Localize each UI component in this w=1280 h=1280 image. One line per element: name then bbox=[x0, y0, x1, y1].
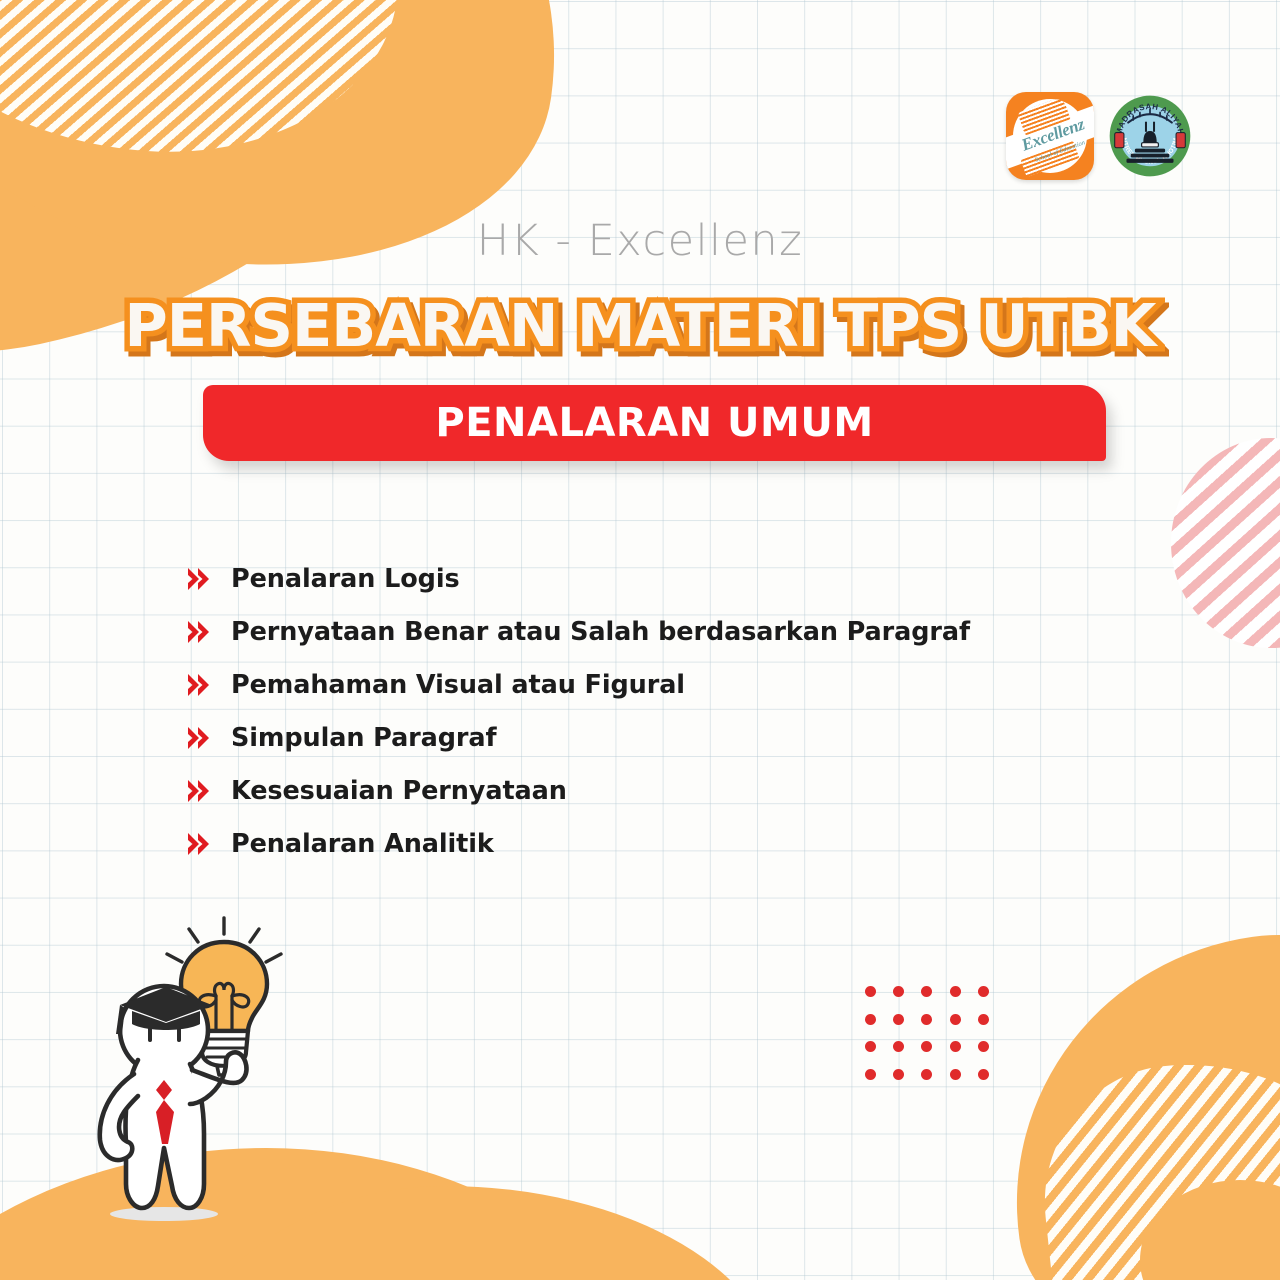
brand-handwritten-line: HK - Excellenz bbox=[0, 216, 1280, 266]
red-dot bbox=[893, 1014, 904, 1025]
double-chevron-icon bbox=[186, 672, 214, 698]
excellenz-logo-icon: Excellenz School of Education bbox=[1006, 92, 1094, 180]
red-dot-grid-decoration bbox=[856, 978, 998, 1088]
page-title: PERSEBARAN MATERI TPS UTBK bbox=[0, 291, 1280, 360]
double-chevron-icon bbox=[186, 566, 214, 592]
red-dot bbox=[950, 1014, 961, 1025]
red-dot bbox=[865, 1069, 876, 1080]
list-item-label: Pemahaman Visual atau Figural bbox=[231, 670, 685, 700]
double-chevron-icon bbox=[186, 725, 214, 751]
red-dot bbox=[865, 986, 876, 997]
red-dot bbox=[921, 1041, 932, 1052]
red-dot bbox=[978, 1069, 989, 1080]
red-dot bbox=[893, 1069, 904, 1080]
red-dot bbox=[865, 1014, 876, 1025]
poster-canvas: Excellenz School of Education MADRASAH A… bbox=[0, 0, 1280, 1280]
madrasah-seal-icon: MADRASAH ALIYAH PONTREN HUSNUL KHOTIMAH bbox=[1108, 94, 1192, 178]
list-item[interactable]: Pemahaman Visual atau Figural bbox=[186, 658, 1086, 711]
red-dot bbox=[950, 986, 961, 997]
list-item-label: Pernyataan Benar atau Salah berdasarkan … bbox=[231, 617, 970, 647]
double-chevron-icon bbox=[186, 831, 214, 857]
list-item[interactable]: Simpulan Paragraf bbox=[186, 711, 1086, 764]
red-dot bbox=[893, 1041, 904, 1052]
double-chevron-icon bbox=[186, 619, 214, 645]
list-item-label: Simpulan Paragraf bbox=[231, 723, 497, 753]
red-dot bbox=[950, 1069, 961, 1080]
subtitle-banner-label: PENALARAN UMUM bbox=[435, 400, 873, 446]
list-item-label: Kesesuaian Pernyataan bbox=[231, 776, 567, 806]
red-dot bbox=[978, 1014, 989, 1025]
red-dot bbox=[865, 1041, 876, 1052]
red-dot bbox=[978, 1041, 989, 1052]
logo-row: Excellenz School of Education MADRASAH A… bbox=[1006, 92, 1192, 180]
red-dot bbox=[893, 986, 904, 997]
red-dot bbox=[921, 986, 932, 997]
list-item[interactable]: Penalaran Analitik bbox=[186, 817, 1086, 870]
graduate-lightbulb-illustration bbox=[86, 912, 346, 1222]
list-item-label: Penalaran Logis bbox=[231, 564, 460, 594]
list-item-label: Penalaran Analitik bbox=[231, 829, 494, 859]
list-item[interactable]: Pernyataan Benar atau Salah berdasarkan … bbox=[186, 605, 1086, 658]
topic-list: Penalaran Logis Pernyataan Benar atau Sa… bbox=[186, 552, 1086, 870]
red-dot bbox=[978, 986, 989, 997]
red-dot bbox=[921, 1069, 932, 1080]
red-dot bbox=[921, 1014, 932, 1025]
double-chevron-icon bbox=[186, 778, 214, 804]
red-dot bbox=[950, 1041, 961, 1052]
list-item[interactable]: Kesesuaian Pernyataan bbox=[186, 764, 1086, 817]
list-item[interactable]: Penalaran Logis bbox=[186, 552, 1086, 605]
subtitle-banner: PENALARAN UMUM bbox=[203, 385, 1106, 461]
